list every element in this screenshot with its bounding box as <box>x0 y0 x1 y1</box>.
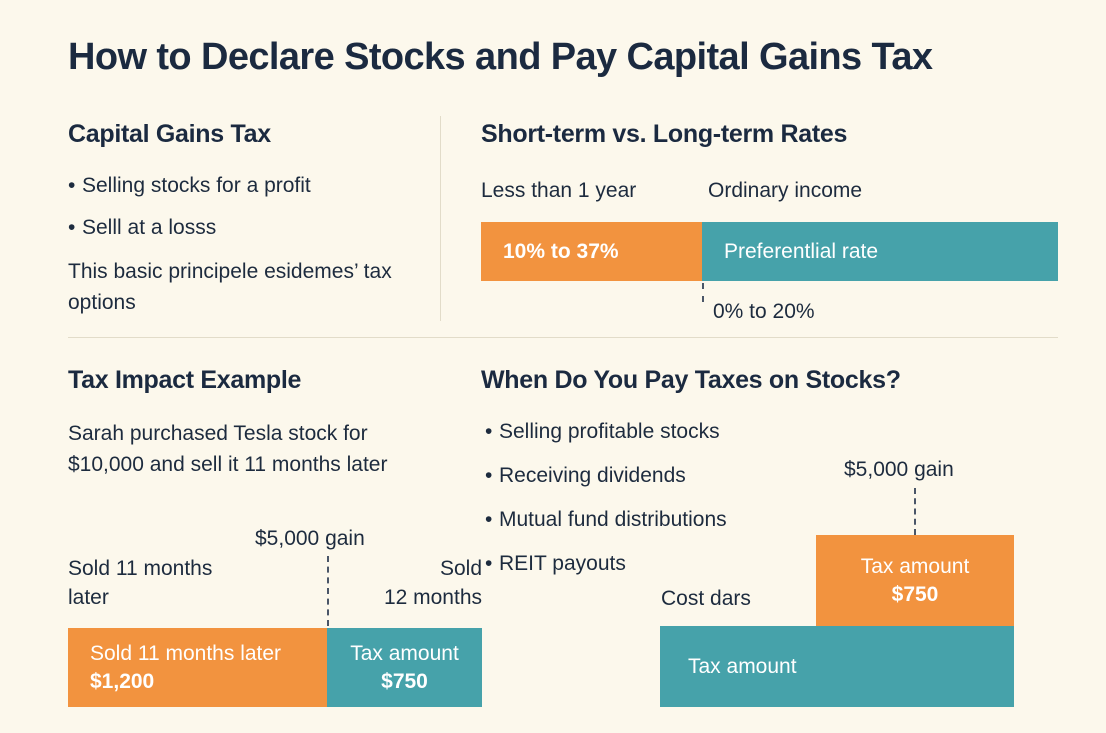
when-pay-bullet-4-label: REIT payouts <box>499 552 626 575</box>
tax-impact-label-left-line1: Sold 11 months <box>68 554 212 583</box>
tax-impact-bar-tax-value: $750 <box>327 668 482 696</box>
rates-callout-0-to-20: 0% to 20% <box>713 297 815 326</box>
capital-gains-bullet-1: •Selling stocks for a profit <box>68 172 311 200</box>
when-pay-dashed-connector <box>914 488 916 535</box>
when-pay-cost-label: Cost dars <box>661 584 751 613</box>
tax-impact-label-left-line2: later <box>68 583 212 612</box>
when-pay-bar-tax-bottom-label: Tax amount <box>660 653 1014 681</box>
infographic-canvas: How to Declare Stocks and Pay Capital Ga… <box>0 0 1106 733</box>
when-pay-bar-tax-bottom: Tax amount <box>660 626 1014 707</box>
when-pay-bar-tax-top: Tax amount $750 <box>816 535 1014 626</box>
bullet-dot-icon: • <box>485 506 499 534</box>
rates-bar-short-term: 10% to 37% <box>481 222 702 281</box>
bullet-dot-icon: • <box>68 172 82 200</box>
tax-impact-gain-label: $5,000 gain <box>255 524 365 553</box>
section-heading-tax-impact: Tax Impact Example <box>68 366 301 395</box>
when-pay-bullet-2: •Receiving dividends <box>485 462 686 490</box>
tax-impact-bar-sold-value: $1,200 <box>68 668 327 696</box>
bullet-dot-icon: • <box>485 462 499 490</box>
tax-impact-label-right: Sold 12 months <box>332 554 482 612</box>
when-pay-bullet-4: •REIT payouts <box>485 550 626 578</box>
bullet-dot-icon: • <box>68 214 82 242</box>
tax-impact-bar-tax-label: Tax amount <box>327 640 482 668</box>
rates-bar-long-term-label: Preferentlial rate <box>702 238 1058 266</box>
capital-gains-bullet-2-label: Selll at a losss <box>82 216 216 239</box>
rates-dashed-connector <box>702 283 704 302</box>
section-heading-when-pay: When Do You Pay Taxes on Stocks? <box>481 366 901 395</box>
vertical-divider-top <box>440 116 441 321</box>
capital-gains-bullet-1-label: Selling stocks for a profit <box>82 174 311 197</box>
tax-impact-bar-tax: Tax amount $750 <box>327 628 482 707</box>
rates-label-ordinary-income: Ordinary income <box>708 176 862 205</box>
tax-impact-label-left: Sold 11 months later <box>68 554 212 612</box>
when-pay-bullet-3: •Mutual fund distributions <box>485 506 727 534</box>
when-pay-bullet-2-label: Receiving dividends <box>499 464 686 487</box>
tax-impact-label-right-line1: Sold <box>332 554 482 583</box>
tax-impact-label-right-line2: 12 months <box>332 583 482 612</box>
capital-gains-bullet-2: •Selll at a losss <box>68 214 216 242</box>
tax-impact-bar-sold-label: Sold 11 months later <box>68 640 327 668</box>
bullet-dot-icon: • <box>485 550 499 578</box>
bullet-dot-icon: • <box>485 418 499 446</box>
tax-impact-bar-sold: Sold 11 months later $1,200 <box>68 628 327 707</box>
page-title: How to Declare Stocks and Pay Capital Ga… <box>68 36 932 79</box>
rates-bar-short-term-label: 10% to 37% <box>481 238 702 266</box>
when-pay-bar-tax-top-value: $750 <box>816 581 1014 609</box>
tax-impact-description: Sarah purchased Tesla stock for $10,000 … <box>68 418 413 480</box>
rates-bar-long-term: Preferentlial rate <box>702 222 1058 281</box>
rates-label-less-than-1-year: Less than 1 year <box>481 176 636 205</box>
when-pay-bar-tax-top-label: Tax amount <box>816 553 1014 581</box>
when-pay-bullet-1-label: Selling profitable stocks <box>499 420 720 443</box>
when-pay-bullet-1: •Selling profitable stocks <box>485 418 720 446</box>
when-pay-gain-label: $5,000 gain <box>844 455 954 484</box>
capital-gains-note: This basic principele esidemes’ tax opti… <box>68 256 418 318</box>
when-pay-bullet-3-label: Mutual fund distributions <box>499 508 727 531</box>
horizontal-divider <box>68 337 1058 338</box>
section-heading-capital-gains: Capital Gains Tax <box>68 120 271 149</box>
tax-impact-dashed-connector <box>327 556 329 626</box>
section-heading-rates: Short-term vs. Long-term Rates <box>481 120 847 149</box>
